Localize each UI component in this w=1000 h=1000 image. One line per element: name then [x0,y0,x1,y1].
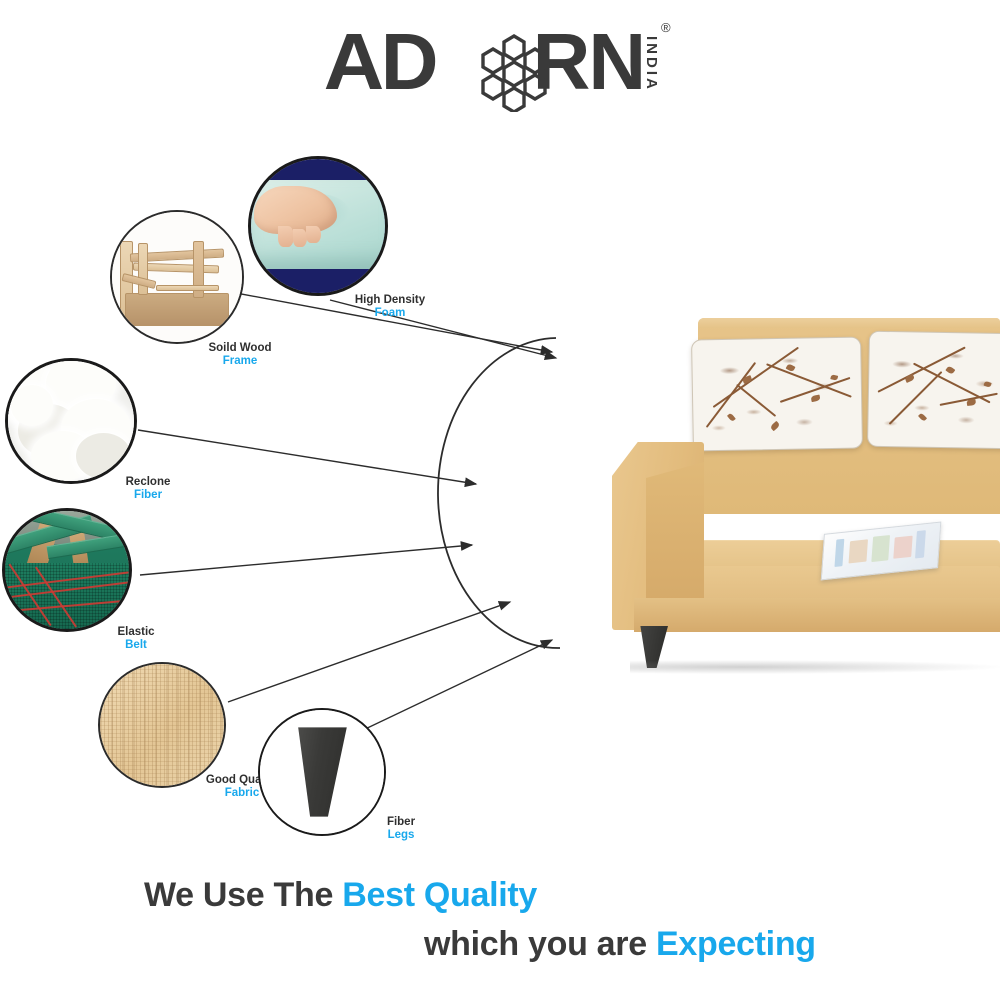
wood-frame-photo [110,210,244,344]
tagline: We Use The Best Quality which you are Ex… [0,876,1000,964]
tagline-line2-plain: which you are [424,925,656,963]
fabric-photo [98,662,226,788]
floral-cushion-right [867,331,1000,450]
arrow-fabric [228,602,510,702]
convergence-arc [438,338,560,648]
fiber-photo [5,358,137,484]
tagline-line1-accent: Best Quality [342,876,537,914]
arrow-belt [140,545,472,575]
product-sofa-image [600,300,1000,660]
sofa-leg-photo [258,708,386,836]
label-elastic-belt: Elastic Belt [94,626,178,652]
floral-cushion-left [691,337,863,452]
foam-photo [248,156,388,296]
label-fiber-legs: Fiber Legs [370,816,432,842]
callout-high-density-foam: High Density Foam [248,156,388,296]
tagline-line-1: We Use The Best Quality [0,876,1000,915]
callout-good-quality-fabric: Good Quality Fabric [98,662,226,788]
label-high-density-foam: High Density Foam [336,294,444,320]
elastic-belt-photo [2,508,132,632]
callout-fiber-legs: Fiber Legs [258,708,386,836]
tagline-line-2: which you are Expecting [0,925,1000,964]
tagline-line1-plain: We Use The [144,876,342,914]
tagline-line2-accent: Expecting [656,925,816,963]
label-reclone-fiber: Reclone Fiber [101,476,195,502]
label-solid-wood-frame: Soild Wood Frame [186,342,294,368]
callout-solid-wood-frame: Soild Wood Frame [110,210,244,344]
callout-reclone-fiber: Reclone Fiber [5,358,137,484]
infographic-canvas: A D O R N INDIA ® [0,0,1000,1000]
callout-elastic-belt: Elastic Belt [2,508,132,632]
